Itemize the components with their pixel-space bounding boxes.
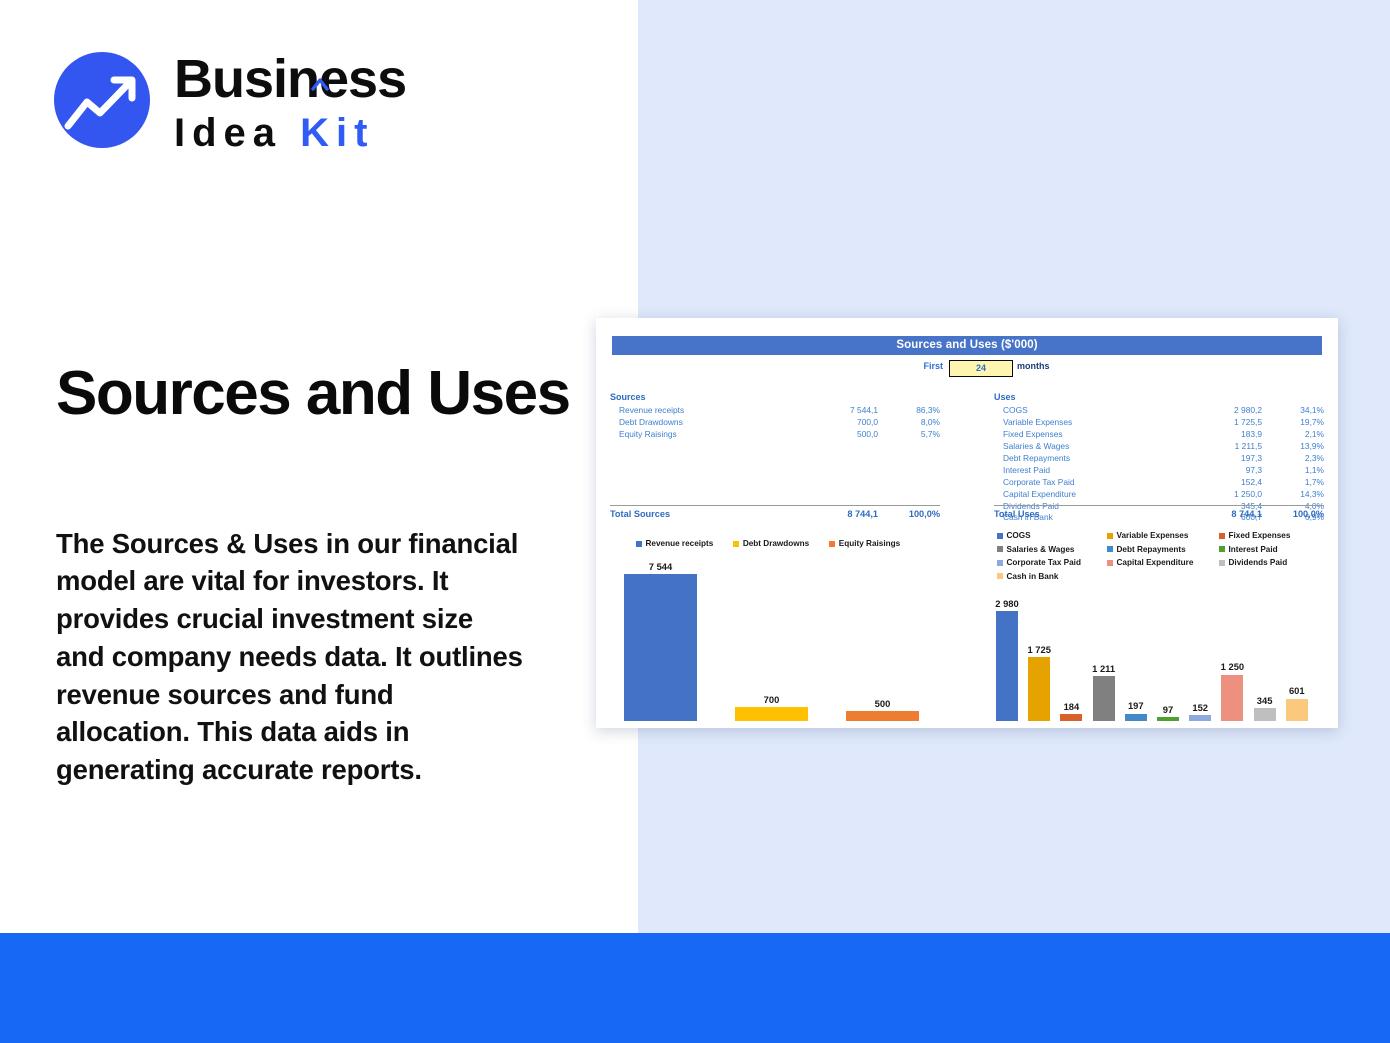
legend-item: COGS (997, 531, 1107, 540)
row-percent: 13,9% (1262, 441, 1324, 451)
legend-label: Debt Repayments (1117, 545, 1186, 554)
legend-swatch-icon (1219, 560, 1225, 566)
legend-swatch-icon (1107, 546, 1113, 552)
sheet-title-bar: Sources and Uses ($'000) (612, 336, 1322, 355)
row-label: Fixed Expenses (994, 429, 1178, 439)
row-percent: 2,1% (1262, 429, 1324, 439)
bar-column: 601 (1286, 595, 1308, 721)
bar-rect (1093, 676, 1115, 721)
legend-item: Fixed Expenses (1219, 531, 1327, 540)
logo-chart-arrow-icon (54, 52, 150, 148)
bar-value-label: 700 (764, 694, 780, 705)
logo-business-label: Business (174, 49, 406, 109)
row-percent: 19,7% (1262, 417, 1324, 427)
row-label: Variable Expenses (994, 417, 1178, 427)
row-value: 700,0 (794, 417, 878, 427)
bar-rect (735, 707, 808, 721)
logo-caret-icon (310, 46, 330, 66)
row-percent: 1,7% (1262, 477, 1324, 487)
bar-column: 152 (1189, 595, 1211, 721)
row-value: 183,9 (1178, 429, 1262, 439)
table-row: Debt Repayments 197,3 2,3% (994, 452, 1324, 464)
bar-rect (846, 711, 919, 721)
bar-column: 1 725 (1028, 595, 1050, 721)
row-percent: 8,0% (878, 417, 940, 427)
bar-value-label: 1 211 (1092, 663, 1115, 674)
row-value: 1 211,5 (1178, 441, 1262, 451)
row-label: Debt Repayments (994, 453, 1178, 463)
row-label: Capital Expenditure (994, 489, 1178, 499)
total-label: Total Sources (610, 509, 794, 519)
bar-column: 500 (846, 556, 919, 721)
bar-value-label: 197 (1128, 700, 1144, 711)
period-prefix-label: First (897, 361, 943, 371)
bar-column: 700 (735, 556, 808, 721)
legend-label: Fixed Expenses (1229, 531, 1291, 540)
bar-rect (1028, 657, 1050, 721)
logo-text-business: Business (174, 48, 504, 110)
table-row: COGS 2 980,2 34,1% (994, 405, 1324, 417)
bar-rect (1286, 699, 1308, 721)
table-row: Corporate Tax Paid 152,4 1,7% (994, 476, 1324, 488)
bar-column: 184 (1060, 595, 1082, 721)
logo-kit-label: Kit (300, 111, 374, 155)
bar-column: 97 (1157, 595, 1179, 721)
bar-column: 2 980 (996, 595, 1018, 721)
legend-label: Variable Expenses (1117, 531, 1189, 540)
background-bottom-bar (0, 933, 1390, 1043)
logo-wordmark: Business Idea Kit (174, 48, 504, 158)
legend-item: Debt Repayments (1107, 545, 1219, 554)
bar-column: 197 (1125, 595, 1147, 721)
row-label: Interest Paid (994, 465, 1178, 475)
table-row: Revenue receipts 7 544,1 86,3% (610, 405, 940, 417)
total-percent: 100,0% (1262, 509, 1324, 519)
row-value: 500,0 (794, 429, 878, 439)
uses-bar-chart: 2 9801 7251841 211197971521 250345601 (988, 595, 1333, 721)
period-selector-row: First 24 months (612, 361, 1322, 377)
row-value: 2 980,2 (1178, 405, 1262, 415)
legend-swatch-icon (829, 541, 835, 547)
bar-column: 1 211 (1093, 595, 1115, 721)
uses-total-row: Total Uses 8 744,1 100,0% (994, 505, 1324, 519)
legend-item: Interest Paid (1219, 545, 1327, 554)
legend-item: Revenue receipts (636, 539, 713, 548)
bar-value-label: 7 544 (649, 561, 672, 572)
legend-swatch-icon (997, 573, 1003, 579)
bar-value-label: 97 (1163, 704, 1173, 715)
bar-value-label: 345 (1257, 695, 1273, 706)
legend-swatch-icon (1219, 533, 1225, 539)
row-label: Debt Drawdowns (610, 417, 794, 427)
table-row: Equity Raisings 500,0 5,7% (610, 428, 940, 440)
bar-rect (996, 611, 1018, 721)
legend-label: Capital Expenditure (1117, 558, 1194, 567)
bar-rect (1125, 714, 1147, 721)
row-percent: 1,1% (1262, 465, 1324, 475)
row-percent: 34,1% (1262, 405, 1324, 415)
legend-item: Debt Drawdowns (733, 539, 809, 548)
row-value: 7 544,1 (794, 405, 878, 415)
row-label: Equity Raisings (610, 429, 794, 439)
row-label: COGS (994, 405, 1178, 415)
bar-value-label: 601 (1289, 685, 1305, 696)
bar-column: 345 (1254, 595, 1276, 721)
legend-label: Debt Drawdowns (743, 539, 809, 548)
bar-value-label: 1 725 (1027, 644, 1050, 655)
row-label: Salaries & Wages (994, 441, 1178, 451)
bar-value-label: 152 (1192, 702, 1208, 713)
bar-value-label: 500 (875, 698, 891, 709)
uses-table: Uses COGS 2 980,2 34,1% Variable Expense… (994, 392, 1324, 523)
legend-item: Equity Raisings (829, 539, 900, 548)
bar-rect (1254, 708, 1276, 721)
sources-heading: Sources (610, 392, 940, 402)
legend-item: Cash in Bank (997, 572, 1107, 581)
row-percent: 86,3% (878, 405, 940, 415)
legend-item: Dividends Paid (1219, 558, 1327, 567)
table-row: Interest Paid 97,3 1,1% (994, 464, 1324, 476)
legend-swatch-icon (1219, 546, 1225, 552)
logo-idea-label: Idea (174, 111, 282, 155)
table-row: Debt Drawdowns 700,0 8,0% (610, 416, 940, 428)
legend-item: Corporate Tax Paid (997, 558, 1107, 567)
page-title: Sources and Uses (56, 360, 576, 428)
legend-label: Cash in Bank (1007, 572, 1059, 581)
row-percent: 5,7% (878, 429, 940, 439)
legend-item: Variable Expenses (1107, 531, 1219, 540)
legend-swatch-icon (997, 546, 1003, 552)
table-row: Variable Expenses 1 725,5 19,7% (994, 416, 1324, 428)
legend-label: Dividends Paid (1229, 558, 1288, 567)
row-value: 1 725,5 (1178, 417, 1262, 427)
legend-label: Equity Raisings (839, 539, 900, 548)
bar-value-label: 1 250 (1221, 661, 1244, 672)
total-value: 8 744,1 (794, 509, 878, 519)
sources-table: Sources Revenue receipts 7 544,1 86,3% D… (610, 392, 940, 440)
uses-heading: Uses (994, 392, 1324, 402)
sources-total-row: Total Sources 8 744,1 100,0% (610, 505, 940, 519)
brand-logo: Business Idea Kit (54, 48, 454, 158)
row-percent: 14,3% (1262, 489, 1324, 499)
legend-label: Corporate Tax Paid (1007, 558, 1081, 567)
legend-swatch-icon (997, 533, 1003, 539)
bar-column: 7 544 (624, 556, 697, 721)
legend-label: Salaries & Wages (1007, 545, 1075, 554)
row-value: 152,4 (1178, 477, 1262, 487)
bar-value-label: 2 980 (995, 598, 1018, 609)
uses-chart-legend: COGSVariable ExpensesFixed ExpensesSalar… (997, 531, 1327, 581)
table-row: Salaries & Wages 1 211,5 13,9% (994, 440, 1324, 452)
row-value: 197,3 (1178, 453, 1262, 463)
legend-label: Interest Paid (1229, 545, 1278, 554)
logo-text-idea-kit: Idea Kit (174, 110, 504, 156)
row-label: Corporate Tax Paid (994, 477, 1178, 487)
sources-chart-legend: Revenue receiptsDebt DrawdownsEquity Rai… (636, 539, 936, 548)
total-label: Total Uses (994, 509, 1178, 519)
bar-rect (624, 574, 697, 721)
legend-label: COGS (1007, 531, 1031, 540)
legend-swatch-icon (997, 560, 1003, 566)
bar-value-label: 184 (1064, 701, 1080, 712)
legend-item: Capital Expenditure (1107, 558, 1219, 567)
legend-swatch-icon (1107, 533, 1113, 539)
bar-rect (1157, 717, 1179, 721)
bar-rect (1189, 715, 1211, 721)
row-percent: 2,3% (1262, 453, 1324, 463)
legend-item: Salaries & Wages (997, 545, 1107, 554)
bar-rect (1060, 714, 1082, 721)
legend-swatch-icon (1107, 560, 1113, 566)
legend-swatch-icon (636, 541, 642, 547)
total-value: 8 744,1 (1178, 509, 1262, 519)
bar-rect (1221, 675, 1243, 721)
row-value: 1 250,0 (1178, 489, 1262, 499)
row-label: Revenue receipts (610, 405, 794, 415)
page-description: The Sources & Uses in our financial mode… (56, 525, 526, 790)
period-months-input[interactable]: 24 (949, 360, 1013, 377)
total-percent: 100,0% (878, 509, 940, 519)
legend-swatch-icon (733, 541, 739, 547)
table-row: Fixed Expenses 183,9 2,1% (994, 428, 1324, 440)
sources-bar-chart: 7 544700500 (614, 556, 934, 721)
period-suffix-label: months (1017, 361, 1050, 371)
bar-column: 1 250 (1221, 595, 1243, 721)
row-value: 97,3 (1178, 465, 1262, 475)
legend-label: Revenue receipts (646, 539, 714, 548)
table-row: Capital Expenditure 1 250,0 14,3% (994, 488, 1324, 500)
